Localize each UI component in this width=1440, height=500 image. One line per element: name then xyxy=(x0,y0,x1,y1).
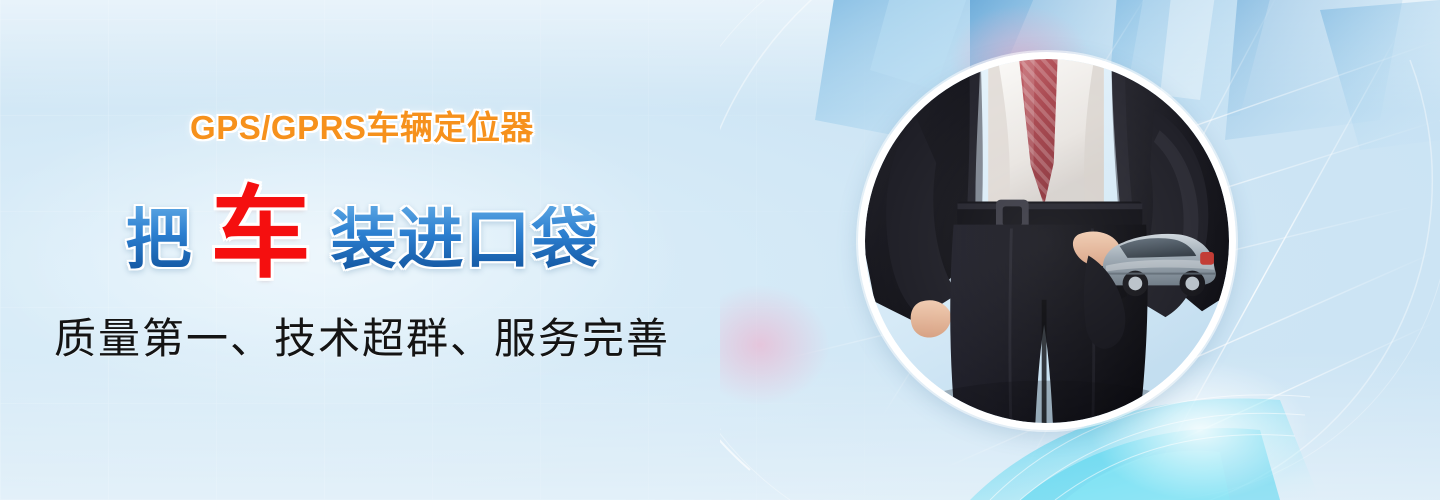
main-headline: 把 车 装进口袋 xyxy=(0,178,724,286)
gps-tracker-promo-banner: GPS/GPRS车辆定位器 把 车 装进口袋 质量第一、技术超群、服务完善 xyxy=(0,0,1440,500)
headline-lead: 把 xyxy=(126,206,193,272)
headline-tail: 装进口袋 xyxy=(331,206,599,272)
slogan-subheadline: 质量第一、技术超群、服务完善 xyxy=(0,305,724,366)
banner-copy-block: GPS/GPRS车辆定位器 把 车 装进口袋 质量第一、技术超群、服务完善 xyxy=(0,0,820,500)
headline-accent-car: 车 xyxy=(211,184,311,284)
product-category-eyebrow: GPS/GPRS车辆定位器 xyxy=(0,101,724,149)
portrait-circle-frame xyxy=(858,52,1236,430)
businessman-photo xyxy=(865,59,1229,423)
